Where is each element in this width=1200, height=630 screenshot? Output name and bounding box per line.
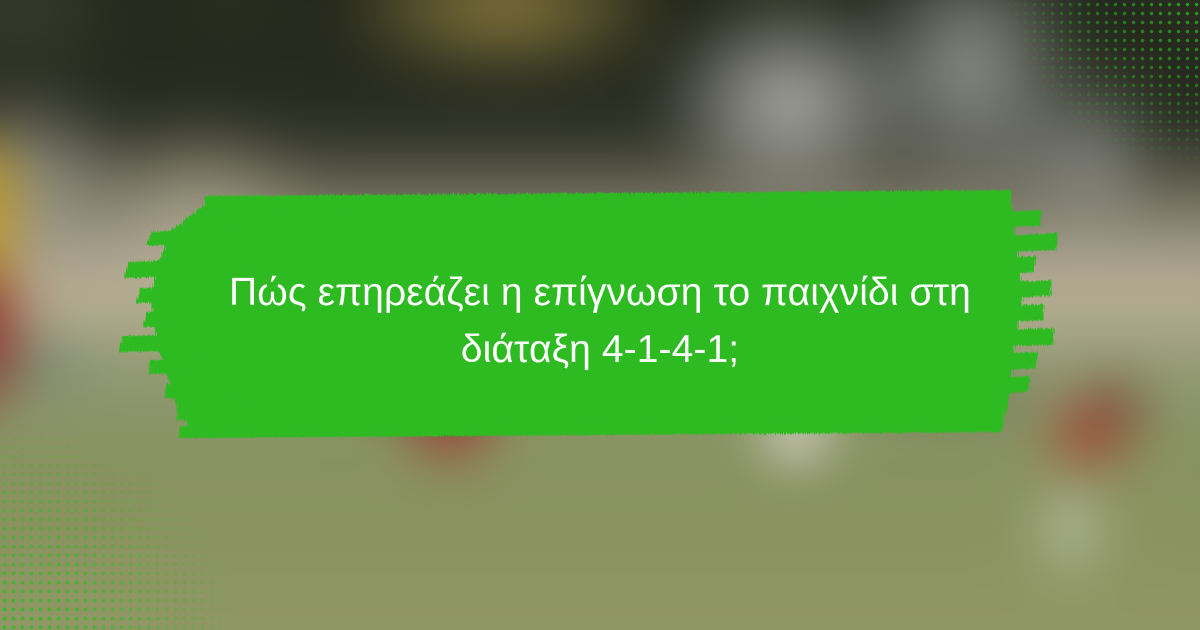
- social-share-card: Πώς επηρεάζει η επίγνωση το παιχνίδι στη…: [0, 0, 1200, 630]
- headline-line-1: Πώς επηρεάζει η επίγνωση το παιχνίδι στη: [170, 265, 1030, 322]
- headline-line-2: διάταξη 4-1-4-1;: [170, 322, 1030, 379]
- headline-text: Πώς επηρεάζει η επίγνωση το παιχνίδι στη…: [170, 265, 1030, 378]
